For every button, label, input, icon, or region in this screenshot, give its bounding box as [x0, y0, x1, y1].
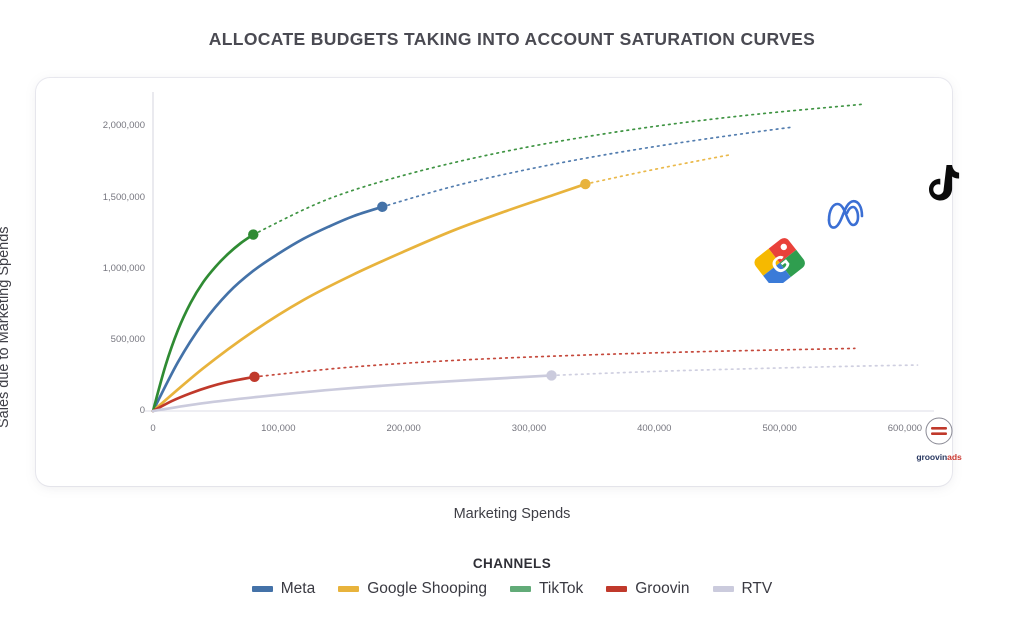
legend-label: Groovin: [635, 580, 689, 598]
legend-swatch-icon: [606, 586, 627, 592]
groovinads-wordmark: groovinads: [916, 452, 962, 462]
chart-card: 0500,0001,000,0001,500,0002,000,0000100,…: [36, 78, 952, 486]
groovinads-logo: groovinads: [916, 416, 962, 464]
x-axis-title: Marketing Spends: [0, 506, 1024, 522]
x-tick-label: 500,000: [740, 423, 820, 434]
series-marker-meta[interactable]: [377, 202, 387, 212]
y-tick-label: 2,000,000: [75, 120, 145, 131]
series-line-rtv: [153, 375, 552, 411]
legend-items: MetaGoogle ShoopingTikTokGroovinRTV: [0, 580, 1024, 598]
google-shopping-logo: G: [752, 233, 810, 283]
series-dotted-tiktok: [253, 104, 861, 234]
legend-item-groovin[interactable]: Groovin: [606, 580, 689, 598]
y-tick-label: 1,500,000: [75, 192, 145, 203]
groovin-mark-icon: [919, 416, 959, 446]
legend-label: Google Shooping: [367, 580, 487, 598]
series-marker-tiktok[interactable]: [248, 229, 258, 239]
legend-swatch-icon: [510, 586, 531, 592]
y-tick-label: 500,000: [75, 334, 145, 345]
legend-label: RTV: [742, 580, 773, 598]
legend-item-rtv[interactable]: RTV: [713, 580, 773, 598]
x-tick-label: 100,000: [238, 423, 318, 434]
x-tick-label: 300,000: [489, 423, 569, 434]
meta-logo: [825, 198, 865, 230]
groovin-word: groovin: [916, 452, 947, 462]
y-tick-label: 1,000,000: [75, 263, 145, 274]
legend-item-meta[interactable]: Meta: [252, 580, 315, 598]
legend-item-tiktok[interactable]: TikTok: [510, 580, 583, 598]
series-dotted-meta: [382, 127, 792, 207]
x-tick-label: 400,000: [614, 423, 694, 434]
x-tick-label: 200,000: [364, 423, 444, 434]
x-tick-label: 0: [113, 423, 193, 434]
series-marker-google-shooping[interactable]: [580, 179, 590, 189]
series-marker-rtv[interactable]: [546, 370, 556, 380]
legend-swatch-icon: [252, 586, 273, 592]
y-axis-title-container: Sales due to Marketing Spends: [12, 168, 36, 428]
y-axis-title: Sales due to Marketing Spends: [0, 226, 12, 428]
plot-area: 0500,0001,000,0001,500,0002,000,0000100,…: [36, 78, 952, 486]
legend-title: CHANNELS: [0, 556, 1024, 571]
legend: CHANNELS MetaGoogle ShoopingTikTokGroovi…: [0, 556, 1024, 598]
y-tick-label: 0: [75, 405, 145, 416]
series-marker-groovin[interactable]: [249, 372, 259, 382]
ads-word: ads: [947, 452, 962, 462]
page-title: ALLOCATE BUDGETS TAKING INTO ACCOUNT SAT…: [0, 29, 1024, 50]
tiktok-logo: [920, 163, 960, 207]
chart-page: ALLOCATE BUDGETS TAKING INTO ACCOUNT SAT…: [0, 0, 1024, 626]
series-dotted-google-shooping: [585, 155, 729, 184]
legend-label: Meta: [281, 580, 315, 598]
legend-label: TikTok: [539, 580, 583, 598]
legend-item-google-shooping[interactable]: Google Shooping: [338, 580, 487, 598]
legend-swatch-icon: [713, 586, 734, 592]
legend-swatch-icon: [338, 586, 359, 592]
series-dotted-rtv: [552, 365, 918, 375]
